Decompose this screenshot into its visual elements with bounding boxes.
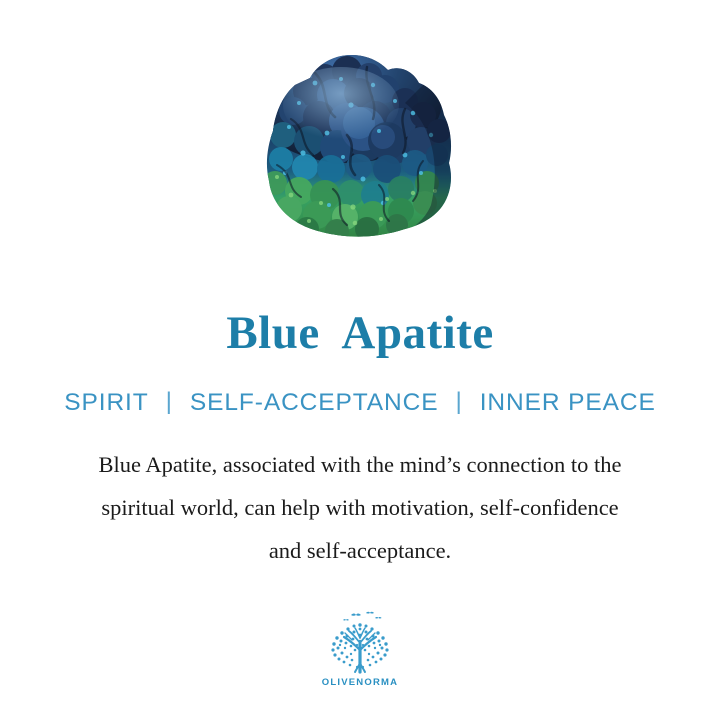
- keyword-list: SPIRIT | SELF-ACCEPTANCE | INNER PEACE: [64, 389, 655, 417]
- blue-apatite-mineral-specimen: [255, 43, 465, 248]
- specimen-image-container: [0, 0, 720, 262]
- keyword-inner-peace: INNER PEACE: [480, 389, 656, 417]
- description-line-2: spiritual world, can help with motivatio…: [30, 486, 690, 529]
- brand-wordmark: OLIVENORMA: [322, 677, 398, 688]
- page-title: Blue Apatite: [226, 310, 493, 357]
- brand-logo: OLIVENORMA: [321, 610, 399, 688]
- keyword-separator: |: [455, 388, 462, 416]
- description-line-3: and self-acceptance.: [30, 529, 690, 572]
- keyword-separator: |: [166, 388, 173, 416]
- description-text: Blue Apatite, associated with the mind’s…: [30, 443, 690, 572]
- product-info-card: Blue Apatite SPIRIT | SELF-ACCEPTANCE | …: [0, 0, 720, 720]
- olive-tree-icon: [321, 610, 399, 676]
- keyword-self-acceptance: SELF-ACCEPTANCE: [190, 389, 439, 417]
- description-line-1: Blue Apatite, associated with the mind’s…: [30, 443, 690, 486]
- keyword-spirit: SPIRIT: [64, 389, 148, 417]
